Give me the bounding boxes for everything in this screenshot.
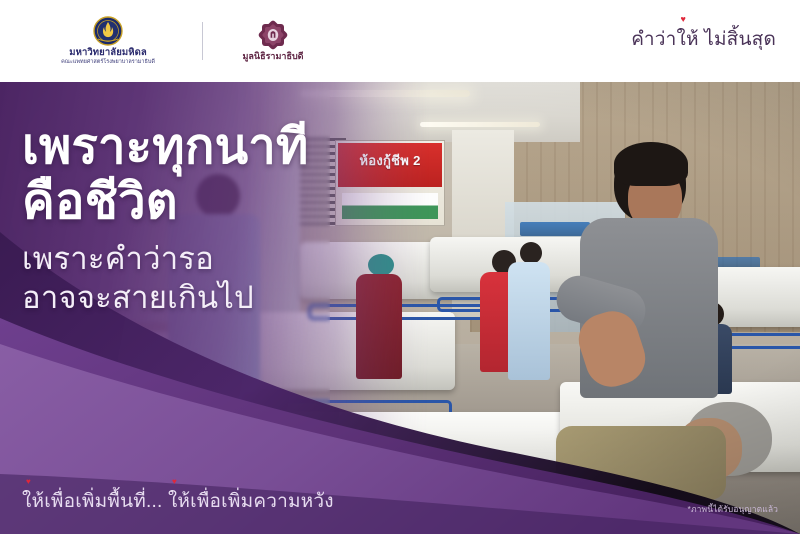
headline-block: เพราะทุกนาที คือชีวิต เพราะคำว่ารอ อาจจะ… — [22, 120, 402, 317]
mahidol-university-logo: มหาวิทยาลัยมหิดล คณะแพทยศาสตร์โรงพยาบาลร… — [28, 16, 188, 65]
footnote: *ภาพนี้ได้รับอนุญาตแล้ว — [688, 502, 778, 516]
footer-give-2: ♥ให้ — [168, 486, 190, 516]
footer-tagline: ♥ให้เพื่อเพิ่มพื้นที่... ♥ให้เพื่อเพิ่มค… — [22, 486, 334, 516]
footer-give-1: ♥ให้ — [22, 486, 44, 516]
footer-give-2-text: ให้ — [168, 491, 190, 512]
poster-header: มหาวิทยาลัยมหิดล คณะแพทยศาสตร์โรงพยาบาลร… — [0, 0, 800, 82]
brand-tagline-give-text: ให้ — [677, 29, 699, 50]
headline-sub-2: อาจจะสายเกินไป — [22, 279, 402, 318]
footer-give-1-text: ให้ — [22, 491, 44, 512]
footer-tagline-part-2: เพื่อเพิ่มความหวัง — [190, 491, 334, 512]
headline-line-2: คือชีวิต — [22, 175, 402, 230]
logo-cluster: มหาวิทยาลัยมหิดล คณะแพทยศาสตร์โรงพยาบาลร… — [28, 8, 329, 74]
heart-icon: ♥ — [172, 478, 177, 486]
mahidol-crest-icon — [93, 16, 123, 46]
university-name: มหาวิทยาลัยมหิดล — [69, 48, 147, 58]
ramathibodi-foundation-crest-icon — [258, 20, 288, 50]
photo-stage: ห้องกู้ชีพ 2 — [0, 82, 800, 534]
heart-icon: ♥ — [26, 478, 31, 486]
heart-icon: ♥ — [681, 15, 687, 24]
footer-tagline-part-1: เพื่อเพิ่มพื้นที่... — [44, 491, 168, 512]
university-faculty: คณะแพทยศาสตร์โรงพยาบาลรามาธิบดี — [61, 60, 155, 66]
brand-tagline-prefix: คำว่า — [631, 29, 676, 50]
headline-sub-1: เพราะคำว่ารอ — [22, 240, 402, 279]
vertical-divider — [202, 22, 203, 60]
brand-tagline-suffix: ไม่สิ้นสุด — [699, 29, 776, 50]
ramathibodi-foundation-logo: มูลนิธิรามาธิบดี — [217, 20, 329, 62]
foundation-name: มูลนิธิรามาธิบดี — [242, 52, 303, 62]
poster-root: มหาวิทยาลัยมหิดล คณะแพทยศาสตร์โรงพยาบาลร… — [0, 0, 800, 534]
headline-line-1: เพราะทุกนาที — [22, 120, 402, 175]
brand-tagline: คำว่า♥ให้ ไม่สิ้นสุด — [631, 24, 776, 54]
brand-tagline-give: ♥ให้ — [677, 24, 699, 54]
